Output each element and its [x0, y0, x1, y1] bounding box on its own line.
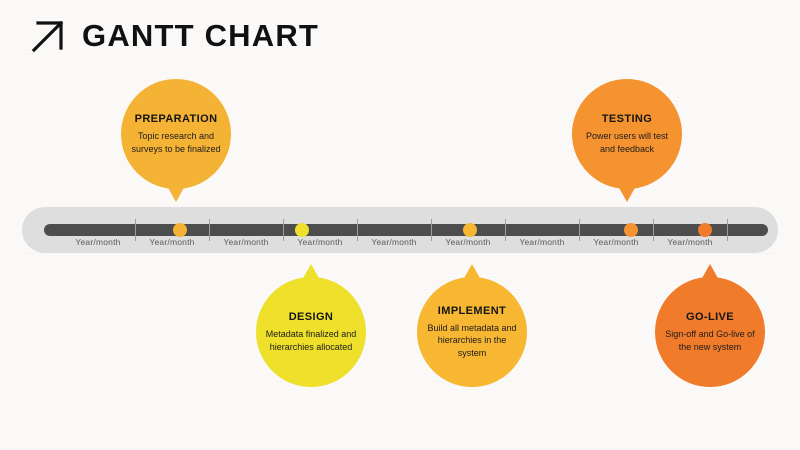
timeline-marker-design[interactable] [295, 223, 309, 237]
timeline-month-label: Year/month [75, 237, 120, 247]
phase-bubble-implement[interactable]: IMPLEMENTBuild all metadata and hierarch… [417, 277, 527, 387]
timeline-month-label: Year/month [149, 237, 194, 247]
phase-description: Sign-off and Go-live of the new system [663, 328, 757, 353]
timeline-tick [727, 219, 728, 241]
phase-title: IMPLEMENT [438, 305, 506, 317]
timeline-marker-go-live[interactable] [698, 223, 712, 237]
phase-bubble-design[interactable]: DESIGNMetadata finalized and hierarchies… [256, 277, 366, 387]
phase-bubble-go-live[interactable]: GO-LIVESign-off and Go-live of the new s… [655, 277, 765, 387]
phase-bubble-tail [701, 264, 719, 280]
timeline-tick [135, 219, 136, 241]
arrow-up-right-icon [30, 18, 66, 54]
timeline-marker-implement[interactable] [463, 223, 477, 237]
phase-title: DESIGN [289, 311, 334, 323]
timeline-tick [209, 219, 210, 241]
timeline-tick [357, 219, 358, 241]
phase-bubble-testing[interactable]: TESTINGPower users will test and feedbac… [572, 79, 682, 189]
timeline-month-label: Year/month [445, 237, 490, 247]
timeline-marker-testing[interactable] [624, 223, 638, 237]
timeline-bar[interactable] [44, 224, 768, 236]
gantt-chart-canvas: GANTT CHART Year/monthYear/monthYear/mon… [0, 0, 800, 450]
header: GANTT CHART [30, 18, 319, 54]
timeline-month-label: Year/month [223, 237, 268, 247]
phase-description: Power users will test and feedback [580, 130, 674, 155]
timeline-month-label: Year/month [667, 237, 712, 247]
phase-title: GO-LIVE [686, 311, 734, 323]
timeline-tick [283, 219, 284, 241]
phase-bubble-tail [302, 264, 320, 280]
timeline-month-label: Year/month [371, 237, 416, 247]
phase-title: TESTING [602, 113, 652, 125]
phase-title: PREPARATION [135, 113, 218, 125]
phase-description: Build all metadata and hierarchies in th… [425, 322, 519, 359]
phase-bubble-tail [167, 186, 185, 202]
phase-bubble-tail [618, 186, 636, 202]
phase-bubble-tail [463, 264, 481, 280]
phase-bubble-preparation[interactable]: PREPARATIONTopic research and surveys to… [121, 79, 231, 189]
phase-description: Topic research and surveys to be finaliz… [129, 130, 223, 155]
phase-description: Metadata finalized and hierarchies alloc… [264, 328, 358, 353]
timeline-marker-preparation[interactable] [173, 223, 187, 237]
timeline-month-label: Year/month [593, 237, 638, 247]
timeline-month-label: Year/month [519, 237, 564, 247]
page-title: GANTT CHART [82, 18, 319, 54]
timeline-month-label: Year/month [297, 237, 342, 247]
timeline-tick [653, 219, 654, 241]
timeline-tick [431, 219, 432, 241]
timeline-tick [505, 219, 506, 241]
timeline-tick [579, 219, 580, 241]
